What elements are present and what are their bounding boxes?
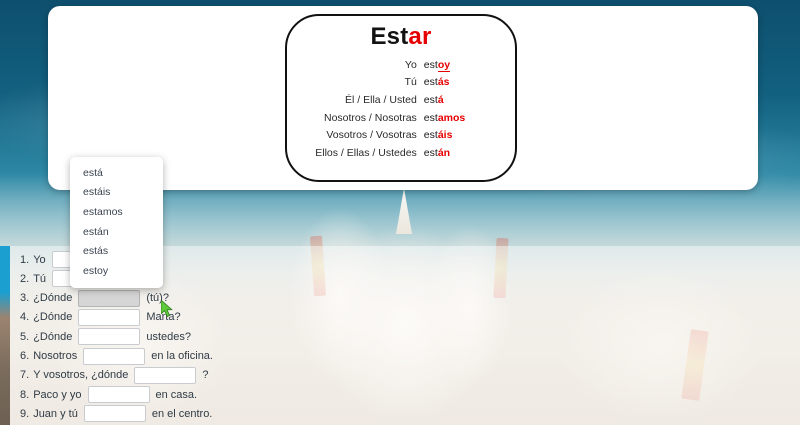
exercise-row: 8.Paco y yoen casa.: [20, 385, 197, 404]
verb-conjugation-card: Estar YoestoyTúestásÉl / Ella / Ustedest…: [285, 14, 517, 182]
autocomplete-option[interactable]: estás: [70, 242, 163, 262]
verb-title-ending: ar: [408, 23, 431, 50]
conjugation-form: estamos: [424, 109, 515, 127]
exercise-suffix-text: ustedes?: [146, 331, 191, 343]
exercise-answer-input[interactable]: [134, 367, 196, 384]
autocomplete-option-list: estáestáisestamosestánestásestoy: [70, 163, 163, 281]
conjugation-stem: est: [424, 76, 438, 88]
conjugation-row: Nosotros / Nosotrasestamos: [287, 109, 515, 127]
exercise-number: 6.: [20, 350, 29, 362]
exercise-suffix-text: (tú)?: [146, 292, 169, 304]
exercise-suffix-text: en el centro.: [152, 408, 213, 420]
exercise-prefix-text: ¿Dónde: [33, 331, 72, 343]
exercise-number: 7.: [20, 369, 29, 381]
autocomplete-dropdown[interactable]: estáestáisestamosestánestásestoy: [70, 157, 163, 288]
conjugation-ending: ás: [438, 76, 450, 88]
conjugation-row: Túestás: [287, 74, 515, 92]
autocomplete-option[interactable]: estáis: [70, 183, 163, 203]
autocomplete-option[interactable]: estamos: [70, 202, 163, 222]
exercise-prefix-text: ¿Dónde: [33, 311, 72, 323]
conjugation-stem: est: [424, 94, 438, 106]
conjugation-stem: est: [424, 59, 438, 71]
conjugation-table-body: YoestoyTúestásÉl / Ella / UstedestáNosot…: [287, 56, 515, 162]
autocomplete-option[interactable]: está: [70, 163, 163, 183]
conjugation-pronoun: Yo: [287, 56, 424, 74]
conjugation-ending: áis: [438, 129, 453, 141]
conjugation-ending: án: [438, 147, 450, 159]
exercise-row: 3.¿Dónde(tú)?: [20, 289, 169, 308]
verb-title-stem: Est: [370, 23, 408, 50]
autocomplete-option[interactable]: están: [70, 222, 163, 242]
exercise-prefix-text: Y vosotros, ¿dónde: [33, 369, 128, 381]
conjugation-ending: oy: [438, 59, 450, 72]
exercise-number: 5.: [20, 331, 29, 343]
conjugation-row: Vosotros / Vosotrasestáis: [287, 126, 515, 144]
conjugation-table: YoestoyTúestásÉl / Ella / UstedestáNosot…: [287, 56, 515, 162]
conjugation-row: Él / Ella / Ustedestá: [287, 91, 515, 109]
exercise-row: 4.¿DóndeMarta?: [20, 308, 181, 327]
exercise-prefix-text: Nosotros: [33, 350, 77, 362]
exercise-prefix-text: ¿Dónde: [33, 292, 72, 304]
exercise-suffix-text: ?: [202, 369, 208, 381]
exercise-number: 2.: [20, 273, 29, 285]
exercise-prefix-text: Paco y yo: [33, 389, 81, 401]
conjugation-form: estás: [424, 74, 515, 92]
exercise-suffix-text: en la oficina.: [151, 350, 213, 362]
exercise-prefix-text: Juan y tú: [33, 408, 78, 420]
conjugation-stem: est: [424, 129, 438, 141]
exercise-answer-input[interactable]: [88, 386, 150, 403]
exercise-number: 8.: [20, 389, 29, 401]
exercise-number: 9.: [20, 408, 29, 420]
conjugation-ending: á: [438, 94, 444, 106]
verb-title: Estar: [287, 25, 515, 49]
conjugation-stem: est: [424, 112, 438, 124]
exercise-answer-input[interactable]: [78, 328, 140, 345]
conjugation-form: estoy: [424, 56, 515, 74]
conjugation-row: Yoestoy: [287, 56, 515, 74]
conjugation-ending: amos: [438, 112, 465, 124]
exercise-row: 9.Juan y túen el centro.: [20, 404, 212, 423]
conjugation-stem: est: [424, 147, 438, 159]
exercise-suffix-text: Marta?: [146, 311, 180, 323]
conjugation-pronoun: Nosotros / Nosotras: [287, 109, 424, 127]
exercise-prefix-text: Yo: [33, 254, 45, 266]
exercise-number: 3.: [20, 292, 29, 304]
exercise-answer-input[interactable]: [84, 405, 146, 422]
conjugation-row: Ellos / Ellas / Ustedesestán: [287, 144, 515, 162]
conjugation-form: estáis: [424, 126, 515, 144]
exercise-row: 5.¿Dóndeustedes?: [20, 327, 191, 346]
exercise-number: 4.: [20, 311, 29, 323]
exercise-answer-input[interactable]: [78, 309, 140, 326]
exercise-suffix-text: en casa.: [156, 389, 198, 401]
autocomplete-option[interactable]: estoy: [70, 261, 163, 281]
exercise-answer-input[interactable]: [78, 290, 140, 307]
exercise-row: 6.Nosotrosen la oficina.: [20, 347, 213, 366]
exercise-number: 1.: [20, 254, 29, 266]
exercise-answer-input[interactable]: [83, 348, 145, 365]
conjugation-form: están: [424, 144, 515, 162]
exercise-row: 7.Y vosotros, ¿dónde?: [20, 366, 209, 385]
conjugation-pronoun: Tú: [287, 74, 424, 92]
conjugation-pronoun: Ellos / Ellas / Ustedes: [287, 144, 424, 162]
exercise-prefix-text: Tú: [33, 273, 46, 285]
conjugation-form: está: [424, 91, 515, 109]
conjugation-pronoun: Él / Ella / Usted: [287, 91, 424, 109]
conjugation-pronoun: Vosotros / Vosotras: [287, 126, 424, 144]
exercise-sheet-left-bar: [0, 246, 10, 425]
